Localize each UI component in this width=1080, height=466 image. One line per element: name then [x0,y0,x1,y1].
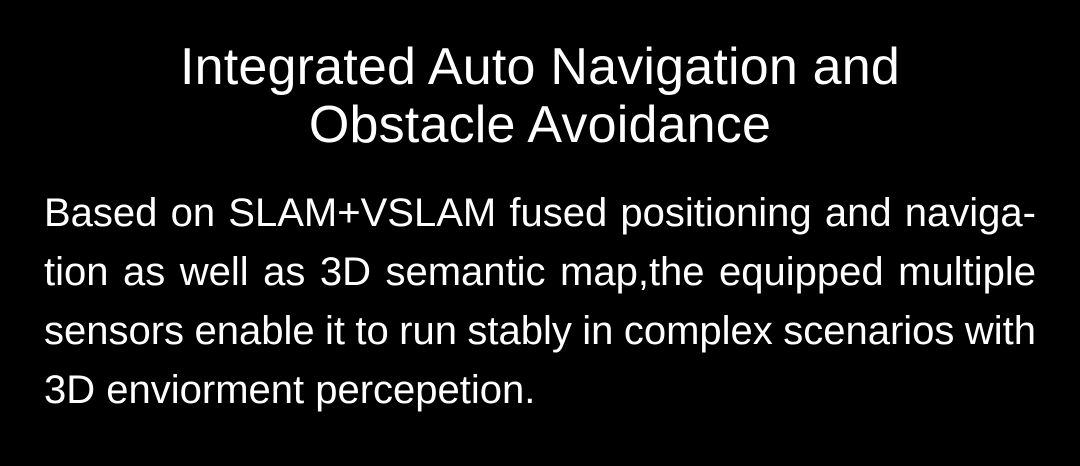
body-word: tion [44,243,109,302]
body-line-2: tion as well as 3D semantic map,the equi… [44,243,1036,302]
body-word: naviga- [905,184,1036,243]
body-line-1: Based on SLAM+VSLAM fused positioning an… [44,184,1036,243]
body-word: scenarios [783,302,954,361]
body-word: SLAM+VSLAM [228,184,496,243]
body-line-4: 3D enviorment percepetion. [44,361,1036,420]
slide-body-text: Based on SLAM+VSLAM fused positioning an… [44,184,1036,420]
slide-title-line-2: Obstacle Avoidance [0,96,1080,154]
slide-title-line-1: Integrated Auto Navigation and [0,38,1080,96]
body-word: in [582,302,613,361]
body-word: map,the [560,243,705,302]
body-word: fused [509,184,607,243]
body-word: to [355,302,388,361]
body-word: sensors [44,302,184,361]
body-word: Based [44,184,157,243]
body-word: stably [467,302,572,361]
body-word: semantic [385,243,545,302]
body-word: run [399,302,457,361]
body-word: on [171,184,216,243]
body-word: positioning [620,184,811,243]
body-word: well [180,243,249,302]
body-word: multiple [898,243,1036,302]
body-word: with [965,302,1036,361]
body-word: enable [194,302,314,361]
body-word: and [825,184,892,243]
body-word: as [123,243,165,302]
presentation-slide: Integrated Auto Navigation and Obstacle … [0,0,1080,466]
body-line-3: sensors enable it to run stably in compl… [44,302,1036,361]
slide-title: Integrated Auto Navigation and Obstacle … [0,38,1080,154]
body-word: equipped [719,243,884,302]
body-word: complex [624,302,773,361]
body-word: as [263,243,305,302]
body-word: it [325,302,345,361]
body-word: 3D [320,243,371,302]
